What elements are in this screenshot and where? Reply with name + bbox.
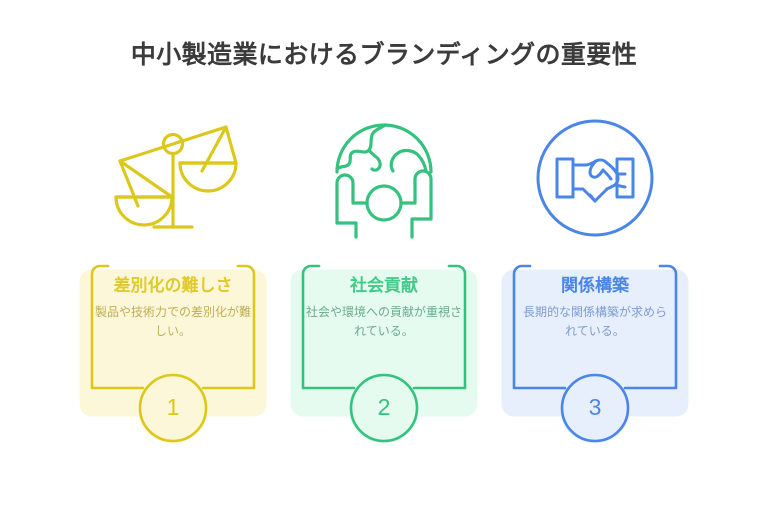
card-column-1: 差別化の難しさ 製品や技術力での差別化が難しい。 1 — [78, 118, 268, 446]
handshake-circle-icon — [530, 118, 660, 238]
card-1[interactable]: 差別化の難しさ 製品や技術力での差別化が難しい。 1 — [78, 256, 268, 446]
card-2-number-badge: 2 — [289, 396, 479, 419]
globe-person-icon — [319, 118, 449, 238]
card-column-2: 社会貢献 社会や環境への貢献が重視されている。 2 — [289, 118, 479, 446]
card-1-number-badge: 1 — [78, 396, 268, 419]
card-column-3: 関係構築 長期的な関係構築が求められている。 3 — [500, 118, 690, 446]
page-title: 中小製造業におけるブランディングの重要性 — [0, 40, 768, 71]
card-3[interactable]: 関係構築 長期的な関係構築が求められている。 3 — [500, 256, 690, 446]
infographic-root: 中小製造業におけるブランディングの重要性 — [0, 0, 768, 511]
card-3-number-badge: 3 — [500, 396, 690, 419]
balance-scale-icon — [108, 118, 238, 238]
card-2[interactable]: 社会貢献 社会や環境への貢献が重視されている。 2 — [289, 256, 479, 446]
cards-row: 差別化の難しさ 製品や技術力での差別化が難しい。 1 — [0, 118, 768, 446]
